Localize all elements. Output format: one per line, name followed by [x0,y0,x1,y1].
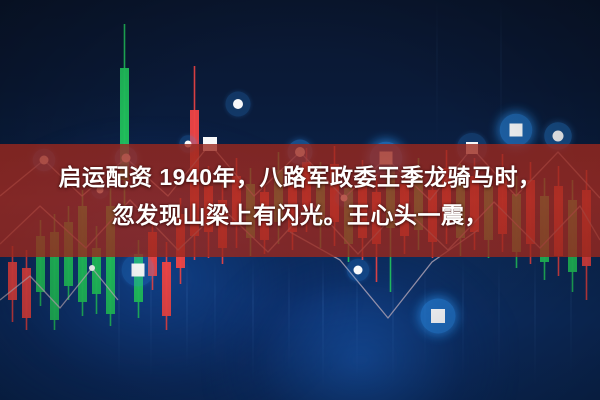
data-node-circle [89,265,95,271]
headline-line-2: 忽发现山梁上有闪光。王心头一震， [0,196,600,234]
stock-chart-banner: 启运配资 1940年，八路军政委王季龙骑马时， 忽发现山梁上有闪光。王心头一震， [0,0,600,400]
data-node-square [132,264,145,277]
candle-body [162,262,171,316]
data-node-square [431,309,445,323]
data-node-circle [354,266,363,275]
data-node-circle [233,99,243,109]
data-node-square [510,124,523,137]
headline-text: 启运配资 1940年，八路军政委王季龙骑马时， 忽发现山梁上有闪光。王心头一震， [0,158,600,234]
headline-line-1: 启运配资 1940年，八路军政委王季龙骑马时， [0,158,600,196]
candle-body [8,262,17,300]
data-node-circle [553,131,564,142]
